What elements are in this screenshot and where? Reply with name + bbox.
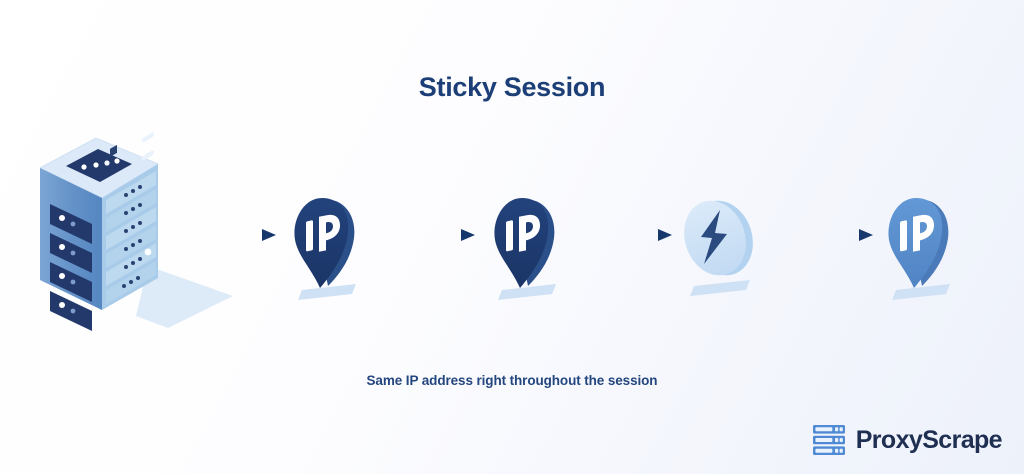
ip-pin-icon bbox=[872, 186, 968, 304]
ip-pin-icon bbox=[278, 186, 374, 304]
arrow-server-to-pin1 bbox=[184, 224, 278, 251]
brand-name: ProxyScrape bbox=[856, 426, 1002, 455]
pin-shadow bbox=[498, 284, 556, 300]
ip-pin-icon bbox=[478, 186, 574, 304]
ip-pin-2 bbox=[478, 186, 574, 304]
brand-logo: ProxyScrape bbox=[812, 424, 1002, 456]
diagram-canvas: Sticky Session bbox=[0, 0, 1024, 474]
arrow-right-icon bbox=[578, 224, 674, 246]
arrow-pin2-to-bolt bbox=[578, 224, 674, 251]
diagram-caption: Same IP address right throughout the ses… bbox=[0, 373, 1024, 388]
page-title: Sticky Session bbox=[0, 72, 1024, 103]
speed-token bbox=[670, 190, 770, 302]
ip-pin-1 bbox=[278, 186, 374, 304]
pin-shadow bbox=[298, 284, 356, 300]
arrow-bolt-to-pin3 bbox=[779, 224, 875, 251]
lightning-disc-icon bbox=[670, 190, 770, 302]
arrow-right-icon bbox=[184, 224, 278, 246]
pin-shadow bbox=[892, 284, 950, 300]
arrow-right-icon bbox=[381, 224, 477, 246]
disc-shadow bbox=[690, 280, 750, 296]
arrow-right-icon bbox=[779, 224, 875, 246]
server-stack-icon bbox=[812, 424, 846, 456]
arrow-pin1-to-pin2 bbox=[381, 224, 477, 251]
ip-pin-3 bbox=[872, 186, 968, 304]
